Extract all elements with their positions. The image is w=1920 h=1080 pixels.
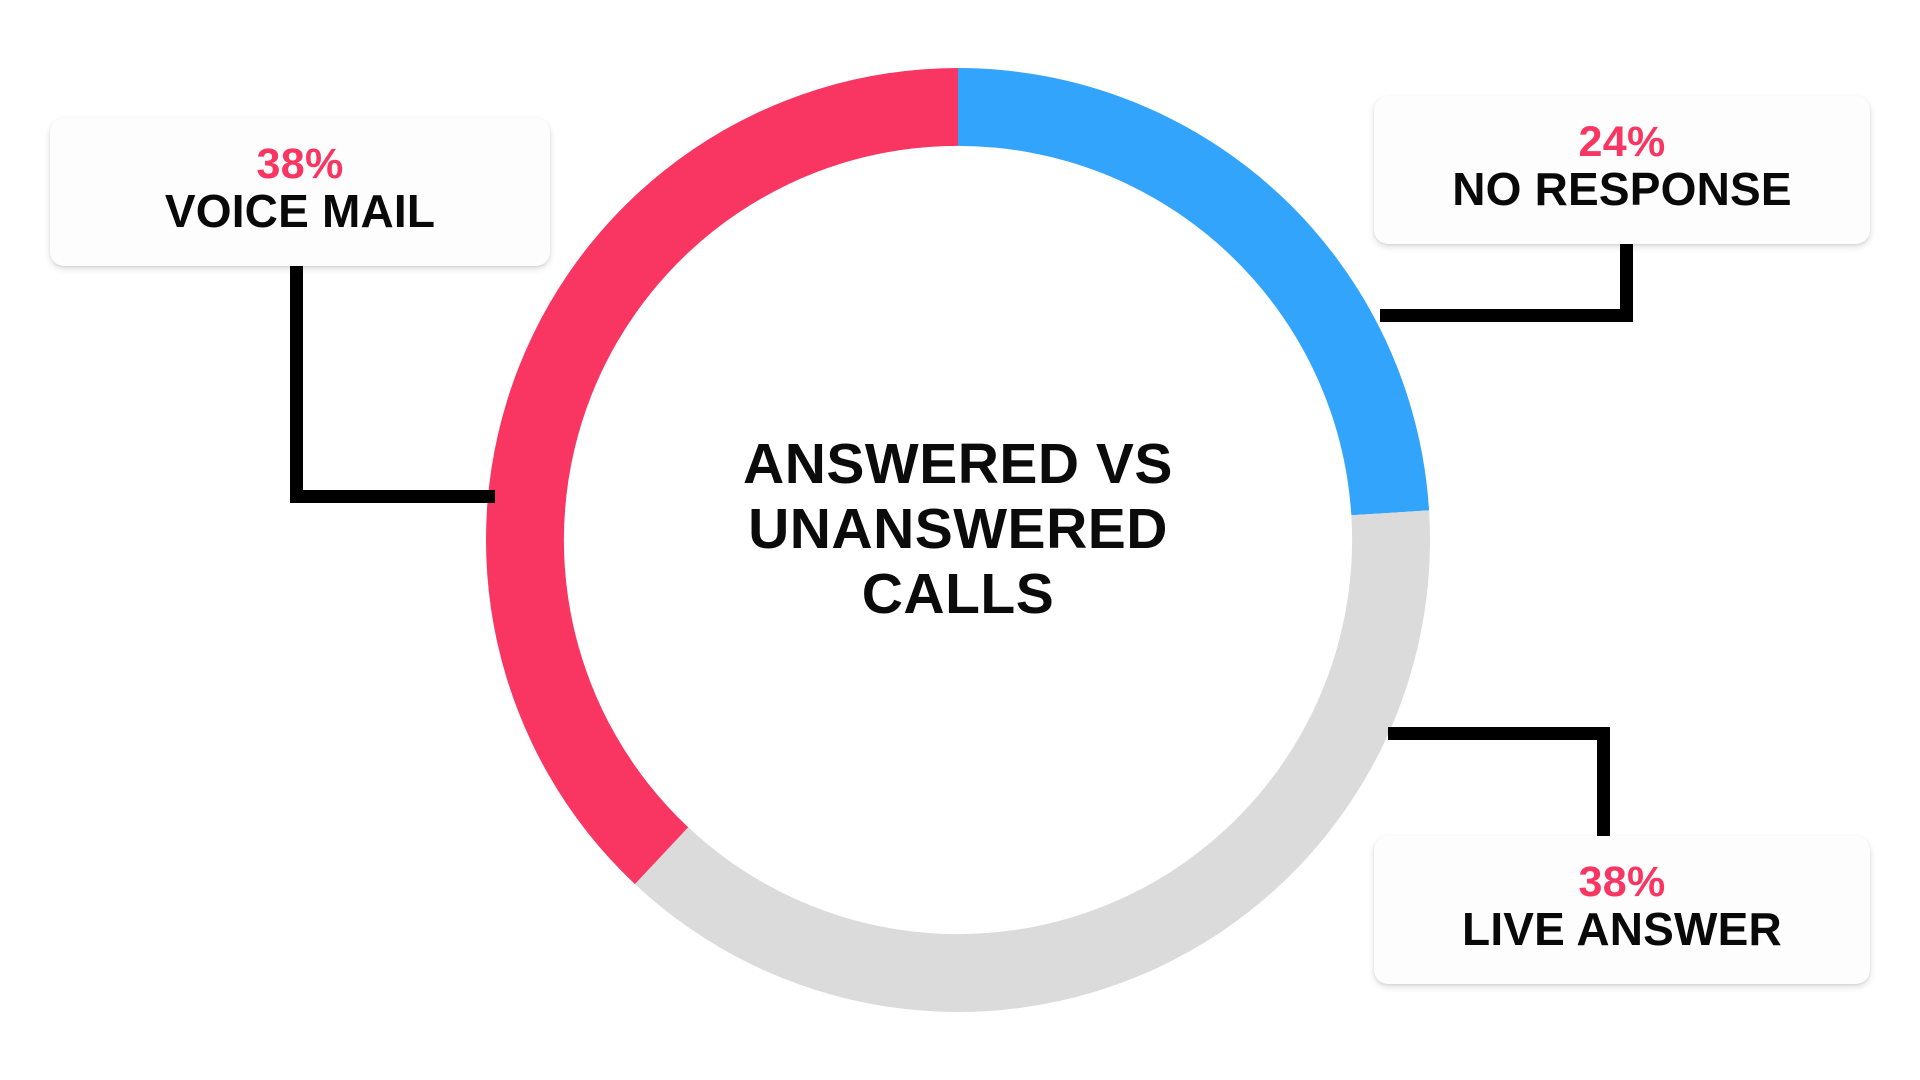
callout-percent-voice-mail: 38% [257,141,344,187]
callout-label-live-answer: LIVE ANSWER [1462,905,1782,955]
leader-line-voice-mail-vertical [290,263,303,503]
chart-canvas: ANSWERED VS UNANSWERED CALLS 38% VOICE M… [0,0,1920,1080]
callout-card-no-response[interactable]: 24% NO RESPONSE [1374,96,1870,244]
leader-line-voice-mail-horizontal [290,490,495,503]
donut-chart [486,68,1430,1012]
leader-line-live-answer-horizontal [1388,727,1610,740]
leader-line-no-response-horizontal [1380,309,1633,322]
callout-card-voice-mail[interactable]: 38% VOICE MAIL [50,118,550,266]
donut-svg [486,68,1430,1012]
callout-label-no-response: NO RESPONSE [1452,165,1792,215]
donut-slice-no-response[interactable] [958,68,1429,515]
callout-percent-no-response: 24% [1579,119,1666,165]
donut-slice-voice-mail[interactable] [486,68,958,884]
donut-slice-live-answer[interactable] [635,510,1430,1012]
callout-percent-live-answer: 38% [1579,859,1666,905]
leader-line-live-answer-vertical [1597,727,1610,839]
callout-label-voice-mail: VOICE MAIL [165,187,435,237]
callout-card-live-answer[interactable]: 38% LIVE ANSWER [1374,836,1870,984]
